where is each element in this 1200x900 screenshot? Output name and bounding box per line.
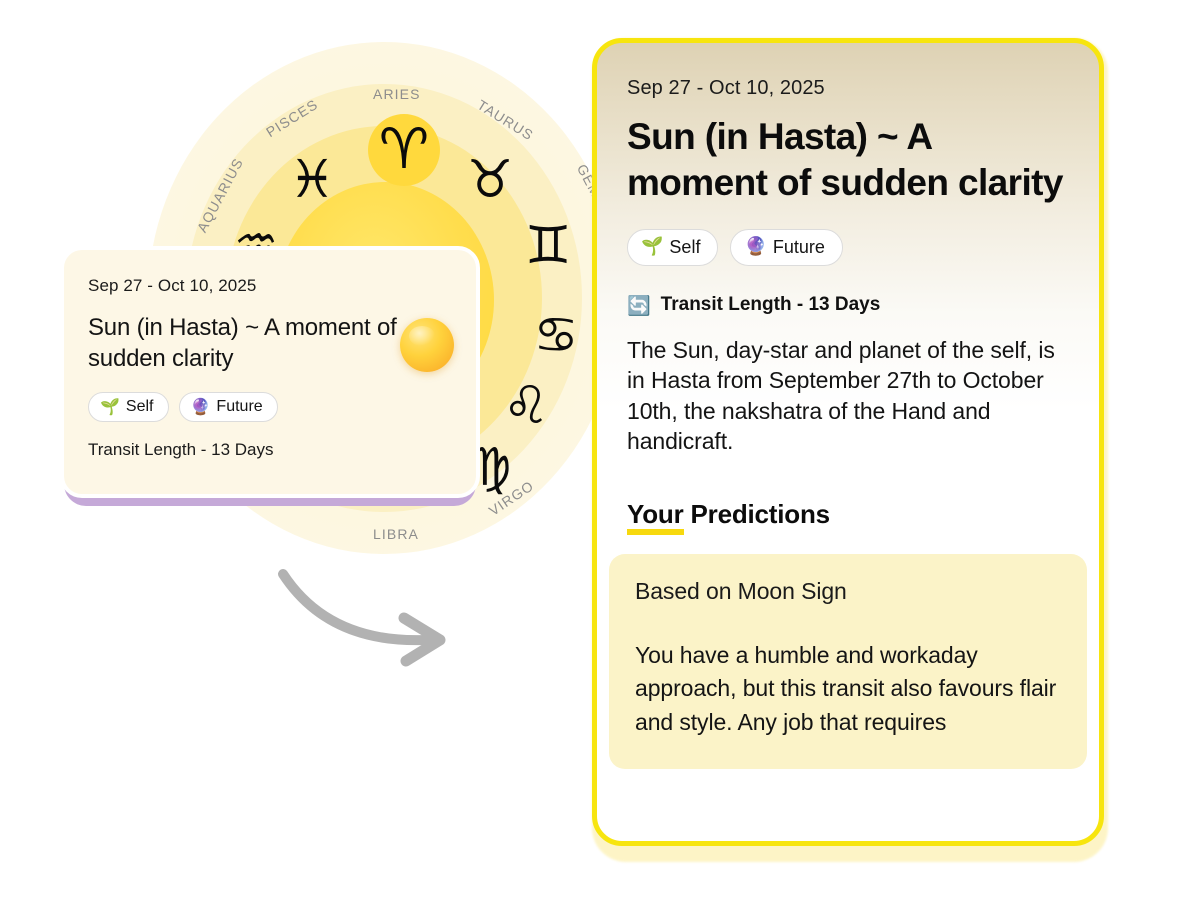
transit-preview-card[interactable]: Sep 27 - Oct 10, 2025 Sun (in Hasta) ~ A… [60, 246, 480, 498]
pisces-glyph-icon[interactable]: ♓ [282, 154, 342, 206]
detail-tag-self[interactable]: 🌱 Self [627, 229, 718, 266]
transit-detail-card[interactable]: Sep 27 - Oct 10, 2025 Sun (in Hasta) ~ A… [592, 38, 1104, 846]
preview-tag-future[interactable]: 🔮 Future [179, 392, 278, 422]
refresh-cycle-icon: 🔄 [627, 294, 651, 317]
predictions-heading-highlight: Your [627, 499, 684, 530]
detail-date-range: Sep 27 - Oct 10, 2025 [627, 77, 1069, 100]
curved-flow-arrow-icon [265, 560, 465, 670]
prediction-subtitle: Based on Moon Sign [635, 578, 1061, 605]
preview-transit-length: Transit Length - 13 Days [88, 440, 452, 460]
preview-tag-self-label: Self [126, 398, 154, 416]
detail-title: Sun (in Hasta) ~ A moment of sudden clar… [627, 114, 1069, 207]
detail-tag-list: 🌱 Self 🔮 Future [627, 229, 1069, 266]
wheel-label-libra: LIBRA [373, 526, 419, 542]
preview-tag-list: 🌱 Self 🔮 Future [88, 392, 452, 422]
predictions-heading-rest: Predictions [684, 499, 830, 529]
detail-tag-future[interactable]: 🔮 Future [730, 229, 842, 266]
predictions-section-heading: Your Predictions [627, 499, 1069, 530]
seedling-icon: 🌱 [100, 399, 120, 415]
sun-orb-icon [400, 318, 454, 372]
preview-title: Sun (in Hasta) ~ A moment of sudden clar… [88, 312, 418, 374]
preview-card-stack[interactable]: Sep 27 - Oct 10, 2025 Sun (in Hasta) ~ A… [60, 246, 480, 516]
prediction-body-text: You have a humble and workaday approach,… [635, 639, 1061, 739]
detail-tag-self-label: Self [669, 237, 700, 258]
detail-body-text: The Sun, day-star and planet of the self… [627, 335, 1069, 457]
preview-date-range: Sep 27 - Oct 10, 2025 [88, 276, 452, 296]
prediction-panel[interactable]: Based on Moon Sign You have a humble and… [609, 554, 1087, 769]
aries-glyph-icon[interactable]: ♈ [370, 122, 438, 178]
gemini-glyph-icon[interactable]: ♊ [518, 220, 578, 272]
wheel-label-aries: ARIES [373, 86, 421, 102]
crystal-ball-icon: 🔮 [191, 399, 211, 415]
detail-transit-length-label: Transit Length - 13 Days [661, 294, 881, 316]
detail-tag-future-label: Future [773, 237, 825, 258]
detail-transit-length-row: 🔄 Transit Length - 13 Days [627, 294, 1069, 317]
seedling-icon: 🌱 [641, 238, 663, 256]
cancer-glyph-icon[interactable]: ♋ [526, 310, 586, 360]
leo-glyph-icon[interactable]: ♌ [496, 380, 556, 432]
crystal-ball-icon: 🔮 [744, 238, 766, 256]
preview-tag-self[interactable]: 🌱 Self [88, 392, 169, 422]
taurus-glyph-icon[interactable]: ♉ [460, 154, 520, 206]
preview-tag-future-label: Future [216, 398, 262, 416]
